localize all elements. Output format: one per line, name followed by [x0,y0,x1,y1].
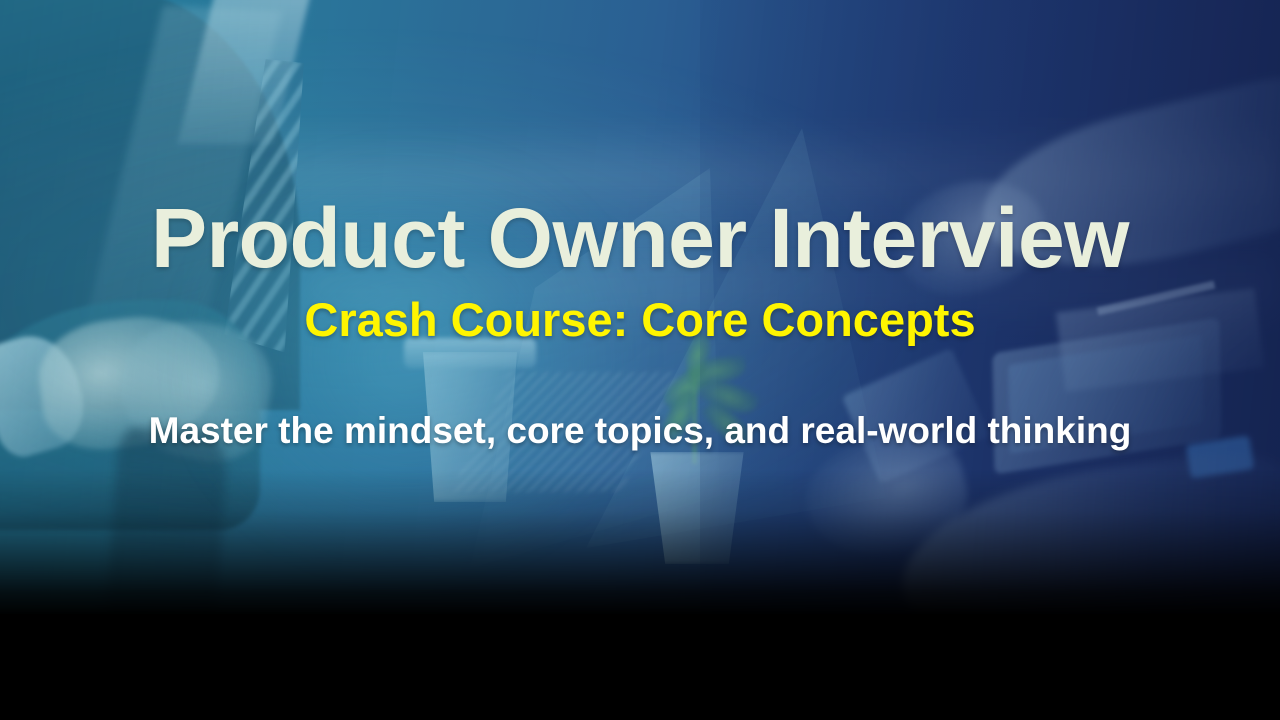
slide-subtitle: Crash Course: Core Concepts [0,296,1280,343]
slide-title: Product Owner Interview [0,196,1280,280]
presentation-slide: Product Owner Interview Crash Course: Co… [0,0,1280,720]
slide-text-block: Product Owner Interview Crash Course: Co… [0,0,1280,640]
bottom-black-bar [0,614,1280,720]
slide-tagline: Master the mindset, core topics, and rea… [0,412,1280,449]
